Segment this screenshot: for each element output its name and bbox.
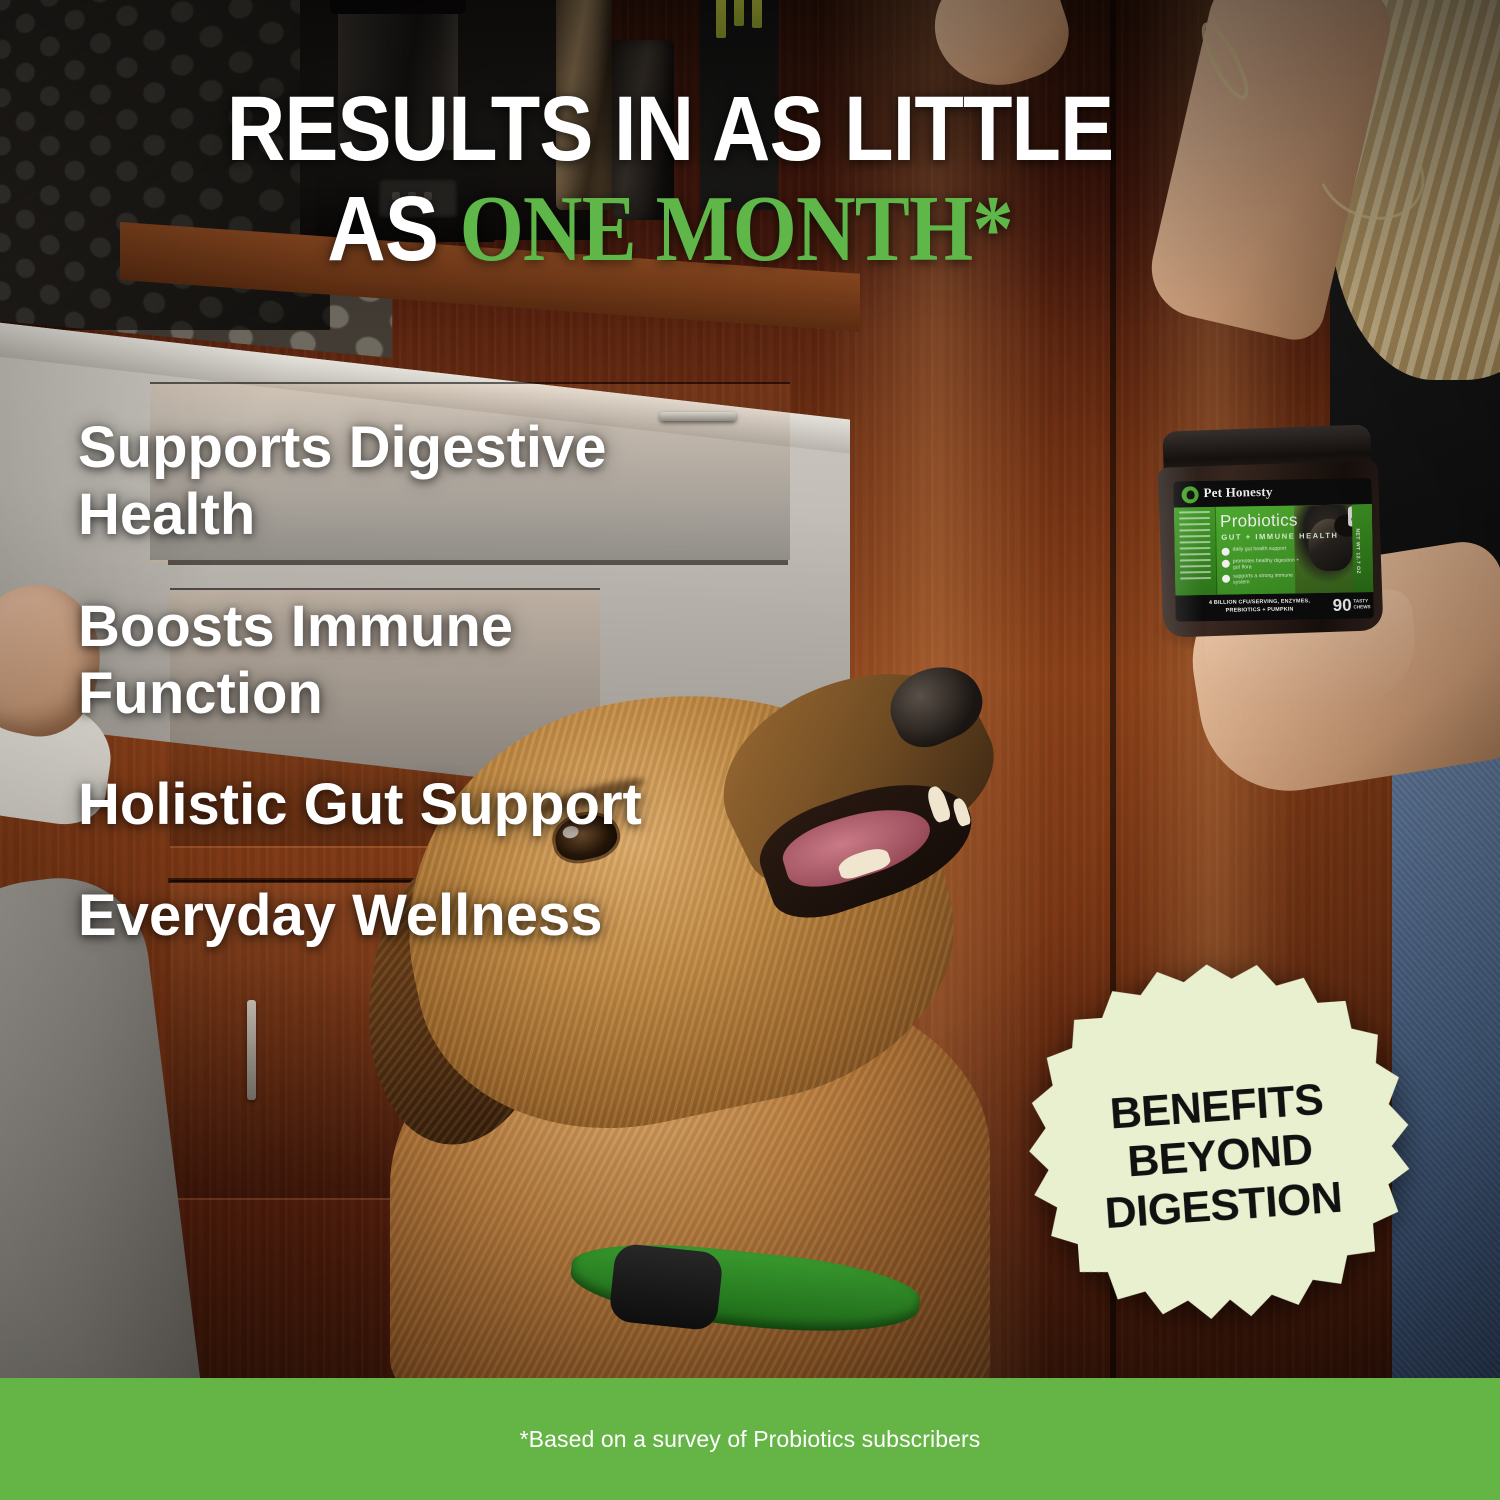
badge-text: BENEFITS BEYOND DIGESTION: [1007, 943, 1434, 1370]
label-bullet: supports a strong immune system: [1222, 572, 1308, 585]
benefit-item: Supports Digestive Health: [78, 414, 718, 549]
label-bullet-text: daily gut health support: [1233, 546, 1287, 553]
product-count-unit: TASTY CHEWS: [1353, 598, 1370, 610]
net-weight-text: NET WT 12.7 OZ: [1354, 528, 1361, 574]
product-jar: Pet Honesty NATURAL Probiotics GUT + IMM…: [1156, 424, 1383, 642]
paw-logo-icon: [1181, 486, 1198, 503]
jar-label: Pet Honesty NATURAL Probiotics GUT + IMM…: [1173, 478, 1373, 621]
footer-bar: *Based on a survey of Probiotics subscri…: [0, 1378, 1500, 1500]
knife-handle: [716, 0, 726, 38]
check-icon: [1222, 560, 1230, 568]
label-bullet-text: supports a strong immune system: [1233, 572, 1308, 585]
product-name: Probiotics: [1220, 510, 1298, 531]
benefit-item: Boosts Immune Function: [78, 593, 718, 728]
check-icon: [1222, 575, 1230, 583]
label-main-panel: NATURAL Probiotics GUT + IMMUNE HEALTH d…: [1174, 504, 1374, 595]
label-bullet-text: promotes healthy digestion + gut flora: [1233, 557, 1308, 570]
label-ingredients-column: [1174, 507, 1218, 596]
product-count: 90: [1332, 596, 1351, 616]
headline-line-1: RESULTS IN AS LITTLE: [80, 84, 1259, 174]
label-brand-bar: Pet Honesty: [1173, 478, 1371, 507]
collar-buckle: [608, 1243, 724, 1332]
label-claims-bar: 4 BILLION CFU/SERVING, ENZYMES, PREBIOTI…: [1175, 592, 1373, 621]
label-bullet-list: daily gut health support promotes health…: [1222, 545, 1309, 588]
headline-line-2: AS ONE MONTH*: [80, 184, 1259, 276]
label-bullet: daily gut health support: [1222, 545, 1308, 555]
page-title: RESULTS IN AS LITTLE AS ONE MONTH*: [0, 84, 1340, 276]
benefit-item: Everyday Wellness: [78, 882, 718, 949]
brand-name: Pet Honesty: [1203, 484, 1272, 501]
status-badge: BENEFITS BEYOND DIGESTION: [1007, 943, 1434, 1370]
count-unit-line2: CHEWS: [1353, 604, 1370, 610]
knife-handle: [734, 0, 744, 26]
product-claims: 4 BILLION CFU/SERVING, ENZYMES, PREBIOTI…: [1199, 598, 1319, 615]
label-bullet: promotes healthy digestion + gut flora: [1222, 557, 1308, 570]
label-side-panel: NET WT 12.7 OZ: [1352, 504, 1374, 592]
benefit-item: Holistic Gut Support: [78, 771, 718, 838]
benefits-list: Supports Digestive Health Boosts Immune …: [78, 414, 718, 950]
promo-banner: Pet Honesty NATURAL Probiotics GUT + IMM…: [0, 0, 1500, 1500]
headline-highlight: ONE MONTH*: [460, 177, 1013, 281]
knife-handle: [752, 0, 762, 28]
headline-line-2-prefix: AS: [327, 178, 459, 280]
check-icon: [1222, 548, 1230, 556]
footer-disclaimer: *Based on a survey of Probiotics subscri…: [520, 1426, 981, 1453]
carafe-lid: [330, 0, 466, 14]
